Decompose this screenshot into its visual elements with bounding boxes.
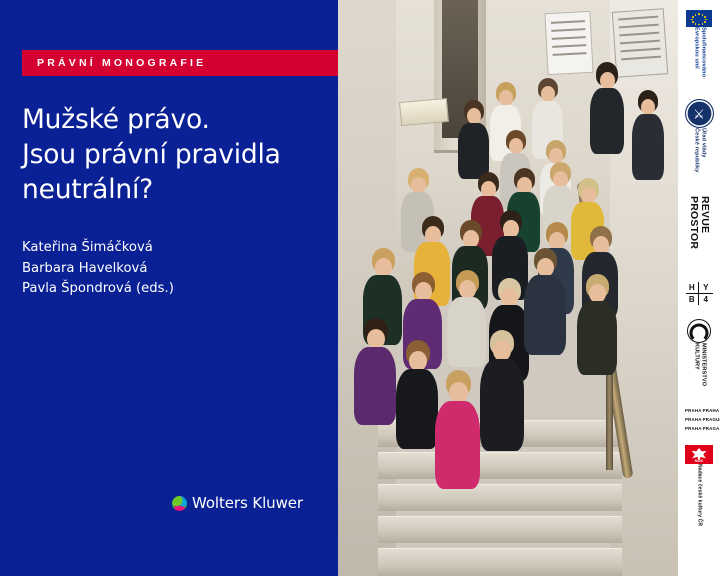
publisher-logo: Wolters Kluwer (172, 494, 303, 512)
logo-ministry-of-culture (678, 319, 720, 343)
prague-word: PRAHA (685, 427, 702, 431)
series-label: PRÁVNÍ MONOGRAFIE (22, 57, 206, 69)
author-3: Pavla Špondrová (eds.) (22, 279, 174, 300)
nadace-ceske-kultury-icon: NČK (685, 445, 713, 464)
logo-government-caption: Úřad vlády České republiky (693, 128, 707, 184)
prague-word: PRAHA (685, 418, 702, 422)
author-2: Barbara Havelková (22, 259, 174, 280)
wolters-kluwer-logo-icon (172, 496, 187, 511)
lion-glyph-icon: ⚔ (693, 107, 705, 120)
logo-nadace-caption: Nadace české kultury ČR (696, 464, 702, 532)
photo-ceiling-light (399, 98, 449, 126)
nadace-mark-sub: NČK (685, 458, 713, 463)
author-1: Kateřina Šimáčková (22, 238, 174, 259)
photo-stair-step (378, 516, 622, 543)
hyb4-cell-h: H (686, 282, 700, 294)
cover-title: Mužské právo. Jsou právní pravidla neutr… (22, 103, 322, 208)
photo-stair-step (378, 452, 622, 479)
logo-eu (678, 10, 720, 27)
photo-stair-step (378, 548, 622, 576)
cover-front-panel: PRÁVNÍ MONOGRAFIE Mužské právo. Jsou prá… (0, 0, 345, 576)
logo-nadace-caption-row: Nadace české kultury ČR (678, 464, 720, 532)
logo-nadace: NČK (678, 445, 720, 464)
group-photo-on-staircase (338, 0, 678, 576)
prague-word: PRAHA (703, 409, 720, 413)
sponsor-logo-sidebar: Spolufinancováno Evropskou unií ⚔ Úřad v… (678, 0, 720, 576)
prague-word: PRAGUE (703, 418, 720, 422)
prague-city-logo-icon: PRAHA PRAHA PRAHA PRAHA PRAGUE PRAGA (685, 409, 713, 431)
prague-col-right: PRAHA PRAGUE PRAGA (703, 409, 720, 431)
hyb4-cell-4: 4 (699, 294, 713, 306)
photo-noticeboard-left (544, 11, 593, 75)
hyb4-cell-b: B (686, 294, 700, 306)
book-cover: PRÁVNÍ MONOGRAFIE Mužské právo. Jsou prá… (0, 0, 720, 576)
title-line-2: Jsou právní pravidla (22, 138, 322, 173)
logo-eu-caption: Spolufinancováno Evropskou unií (693, 27, 707, 89)
logo-revue-prostor: REVUE PROSTOR (678, 196, 720, 270)
prague-word: PRAGA (703, 427, 720, 431)
photo-noticeboard-right (612, 8, 668, 77)
series-band: PRÁVNÍ MONOGRAFIE (22, 50, 338, 76)
logo-ministry-caption: MINISTERSTVO KULTURY (693, 343, 707, 395)
cover-authors: Kateřina Šimáčková Barbara Havelková Pav… (22, 238, 174, 300)
logo-eu-caption-row: Spolufinancováno Evropskou unií (678, 27, 720, 89)
logo-hyb4: H Y B 4 (678, 282, 720, 305)
hyb4-grid-icon: H Y B 4 (686, 282, 713, 305)
publisher-name: Wolters Kluwer (192, 494, 303, 512)
logo-government-caption-row: Úřad vlády České republiky (678, 128, 720, 184)
photo-stair-step (378, 484, 622, 511)
eu-flag-icon (686, 10, 712, 27)
logo-prague: PRAHA PRAHA PRAHA PRAHA PRAGUE PRAGA (678, 409, 720, 431)
hyb4-cell-y: Y (699, 282, 713, 294)
ministry-of-culture-icon (687, 319, 711, 343)
prague-col-left: PRAHA PRAHA PRAHA (685, 409, 702, 431)
logo-government-office: ⚔ (678, 99, 720, 128)
logo-ministry-caption-row: MINISTERSTVO KULTURY (678, 343, 720, 395)
prague-word: PRAHA (685, 409, 702, 413)
title-line-3: neutrální? (22, 173, 322, 208)
czech-government-seal-icon: ⚔ (685, 99, 714, 128)
title-line-1: Mužské právo. (22, 103, 322, 138)
revue-prostor-wordmark: REVUE PROSTOR (688, 196, 710, 270)
